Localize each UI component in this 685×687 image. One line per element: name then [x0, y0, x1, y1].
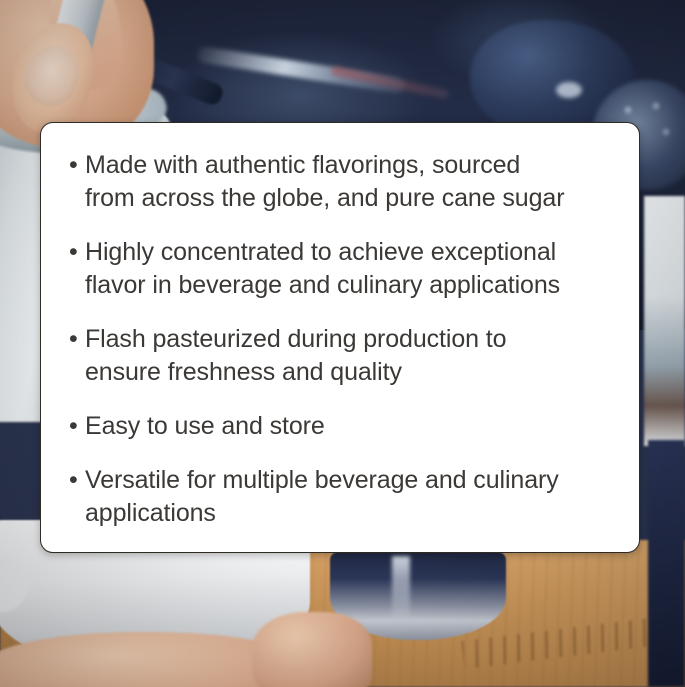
- slide-canvas: • Made with authentic flavorings, source…: [0, 0, 685, 687]
- bullet-point-icon: •: [69, 464, 85, 497]
- bullet-point-icon: •: [69, 410, 85, 443]
- bullet-point-icon: •: [69, 323, 85, 356]
- list-item: • Versatile for multiple beverage and cu…: [69, 464, 609, 530]
- bullet-point-icon: •: [69, 236, 85, 269]
- list-item: • Easy to use and store: [69, 410, 609, 443]
- list-item: • Flash pasteurized during production to…: [69, 323, 609, 389]
- bullet-point-icon: •: [69, 149, 85, 182]
- feature-bullet-list: • Made with authentic flavorings, source…: [69, 149, 609, 530]
- list-item: • Highly concentrated to achieve excepti…: [69, 236, 609, 302]
- list-item: • Made with authentic flavorings, source…: [69, 149, 609, 215]
- feature-bullets-card: • Made with authentic flavorings, source…: [40, 122, 640, 553]
- bullet-text: Easy to use and store: [85, 410, 609, 443]
- bullet-text: Highly concentrated to achieve exception…: [85, 236, 609, 302]
- bullet-text: Flash pasteurized during production to e…: [85, 323, 609, 389]
- bullet-text: Made with authentic flavorings, sourced …: [85, 149, 609, 215]
- bullet-text: Versatile for multiple beverage and culi…: [85, 464, 609, 530]
